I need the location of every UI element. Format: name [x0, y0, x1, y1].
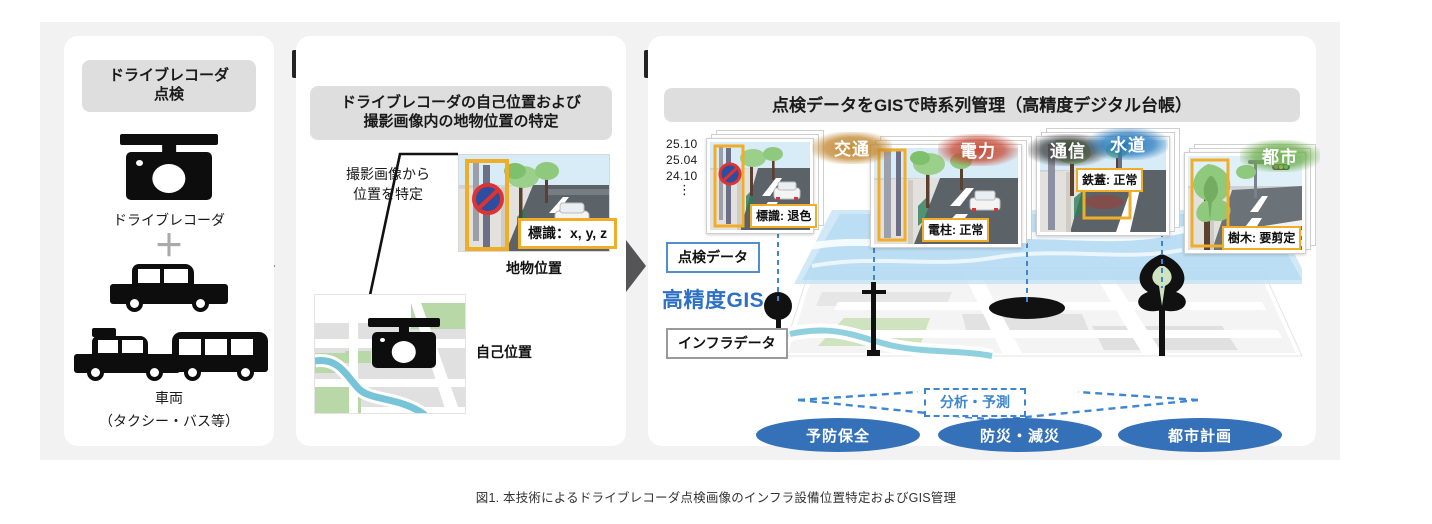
- taxi-icon: [74, 328, 180, 384]
- outcome-pill-preventive-maintenance[interactable]: 予防保全: [756, 418, 920, 452]
- panel-heading: ドライブレコーダの自己位置および 撮影画像内の地物位置の特定: [310, 86, 612, 140]
- timeline-year: 25.04: [666, 152, 698, 168]
- status-badge: 標識: 退色: [750, 204, 817, 228]
- timeline-more-icon: ⋮: [666, 185, 698, 194]
- outcome-pill-urban-planning[interactable]: 都市計画: [1118, 418, 1282, 452]
- detection-label: 標識：x, y, z: [518, 218, 617, 249]
- card-stack-traffic: 標識: 退色: [706, 130, 826, 238]
- category-label-water: 水道: [1088, 128, 1168, 160]
- vehicle-label: 車両: [64, 388, 274, 408]
- analysis-label: 分析・予測: [924, 388, 1026, 417]
- heading-line-1: ドライブレコーダ: [82, 66, 256, 85]
- category-label-power: 電力: [938, 134, 1018, 166]
- car-icon: [110, 264, 228, 316]
- figure-frame: ドライブレコーダ 点検 ドライブレコーダ ＋: [40, 22, 1340, 460]
- outcome-pill-disaster-prevention[interactable]: 防災・減災: [938, 418, 1102, 452]
- inspection-data-layer-label: 点検データ: [666, 242, 760, 273]
- plus-icon: ＋: [64, 232, 274, 262]
- heading-line-2: 点検: [82, 85, 256, 104]
- timeline-years: 25.10 25.04 24.10 ⋮: [666, 136, 698, 194]
- dashcam-icon: [120, 134, 218, 200]
- panel-heading: ドライブレコーダ 点検: [82, 60, 256, 112]
- note-line-2: 位置を特定: [318, 184, 458, 204]
- infra-data-layer-label: インフラデータ: [666, 328, 788, 359]
- panel-this-technology: ドライブレコーダの自己位置および 撮影画像内の地物位置の特定 撮影画像から 位置…: [296, 36, 626, 446]
- status-badge: 鉄蓋: 正常: [1076, 168, 1143, 192]
- drive-recorder-label: ドライブレコーダ: [64, 210, 274, 230]
- panel-heading: 点検データをGISで時系列管理（高精度デジタル台帳）: [664, 88, 1300, 122]
- gis-title: 高精度GIS: [662, 284, 764, 314]
- status-badge: 電柱: 正常: [922, 218, 989, 242]
- feature-position-caption: 地物位置: [458, 258, 610, 278]
- bus-icon: [172, 332, 268, 384]
- heading-line-1: ドライブレコーダの自己位置および: [310, 93, 612, 112]
- dashcam-icon: [368, 318, 440, 368]
- flow-arrow-icon: [626, 240, 646, 292]
- vehicle-sublabel: （タクシー・バス等）: [64, 411, 274, 431]
- photo-position-note: 撮影画像から 位置を特定: [318, 164, 458, 205]
- category-label-city: 都市: [1240, 140, 1320, 172]
- status-badge: 樹木: 要剪定: [1222, 226, 1301, 250]
- self-position-caption: 自己位置: [476, 342, 532, 362]
- heading-line-2: 撮影画像内の地物位置の特定: [310, 112, 612, 131]
- category-label-traffic: 交通: [812, 132, 892, 164]
- panel-drive-recorder-inspection: ドライブレコーダ 点検 ドライブレコーダ ＋: [64, 36, 274, 446]
- note-line-1: 撮影画像から: [318, 164, 458, 184]
- figure-caption: 図1. 本技術によるドライブレコーダ点検画像のインフラ設備位置特定およびGIS管…: [0, 487, 1432, 506]
- panel-usage-image: 点検データをGISで時系列管理（高精度デジタル台帳） 25.10 25.04 2…: [648, 36, 1316, 446]
- timeline-year: 25.10: [666, 136, 698, 152]
